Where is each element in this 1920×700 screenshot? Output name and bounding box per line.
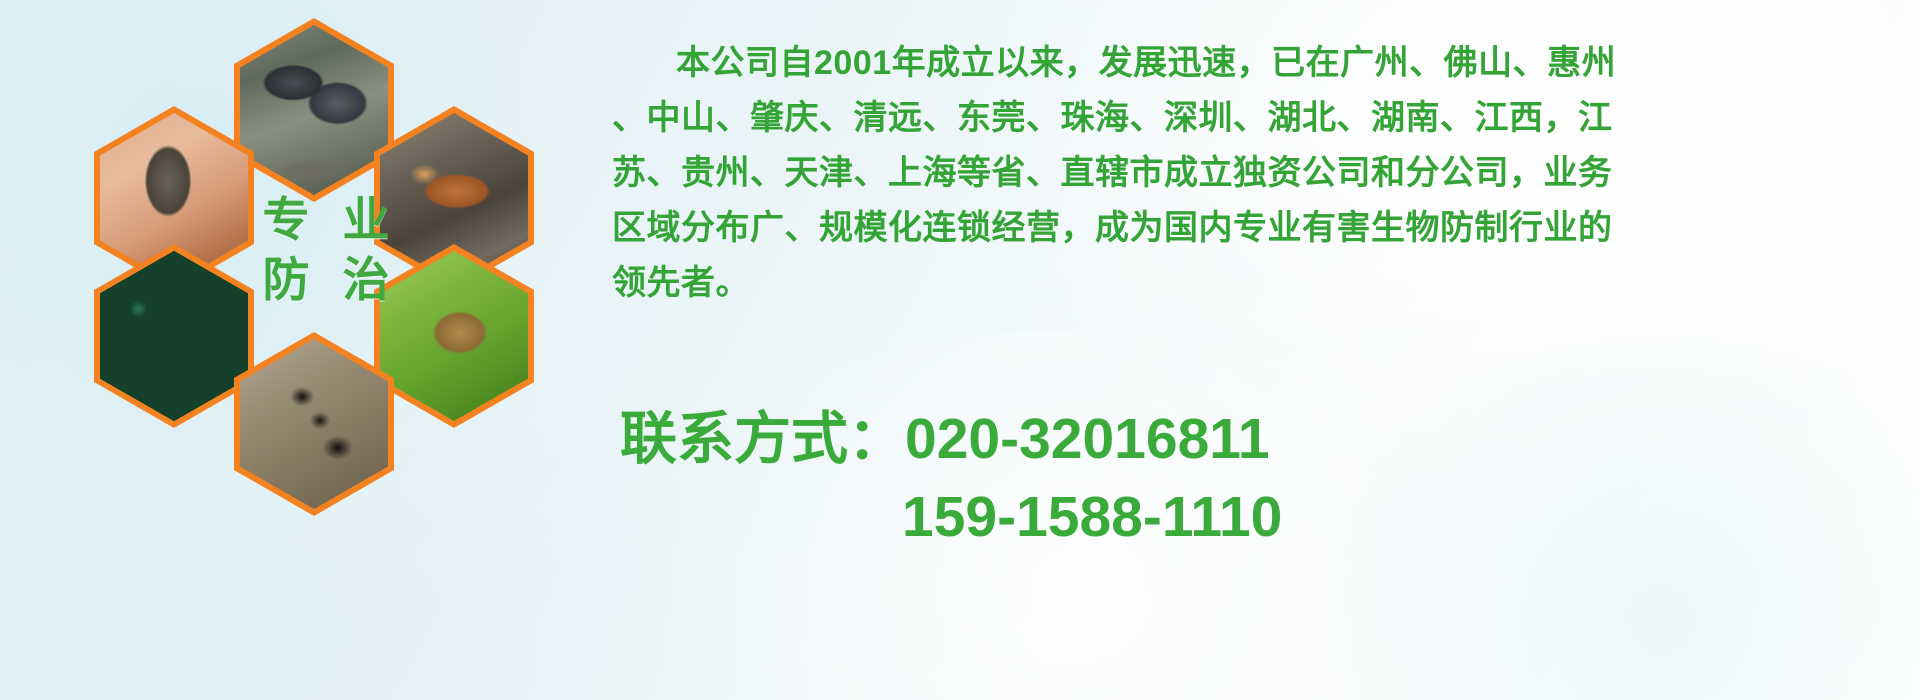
hex-cell-rats[interactable] — [234, 18, 394, 202]
contact-phone-2[interactable]: 159-1588-1110 — [902, 485, 1282, 549]
hex-inner — [240, 339, 388, 509]
ant-photo — [240, 339, 388, 509]
contact-line-primary: 联系方式：020-32016811 — [620, 400, 1920, 478]
honeycomb-collage: 专 业 防 治 — [88, 10, 588, 555]
honeycomb-label-line-1: 专 业 — [236, 190, 426, 250]
hex-cell-flies[interactable] — [94, 244, 254, 428]
hex-cell-ant[interactable] — [234, 332, 394, 516]
description-line-2: 、中山、肇庆、清远、东莞、珠海、深圳、湖北、湖南、江西，江 — [612, 91, 1912, 146]
contact-block: 联系方式：020-32016811 159-1588-1110 — [620, 400, 1920, 556]
description-line-1: 本公司自2001年成立以来，发展迅速，已在广州、佛山、惠州 — [612, 36, 1912, 91]
description-line-4: 区域分布广、规模化连锁经营，成为国内专业有害生物防制行业的 — [612, 201, 1912, 256]
company-description: 本公司自2001年成立以来，发展迅速，已在广州、佛山、惠州 、中山、肇庆、清远、… — [612, 36, 1912, 311]
description-line-5: 领先者。 — [612, 256, 1912, 311]
honeycomb-label-line-2: 防 治 — [236, 250, 426, 310]
promo-banner: 专 业 防 治 本公司自2001年成立以来，发展迅速，已在广州、佛山、惠州 、中… — [0, 0, 1920, 700]
honeycomb-label: 专 业 防 治 — [236, 190, 426, 310]
hex-inner — [240, 25, 388, 195]
contact-line-secondary: 159-1588-1110 — [620, 478, 1920, 556]
hex-inner — [100, 251, 248, 421]
flies-photo — [100, 251, 248, 421]
description-line-3: 苏、贵州、天津、上海等省、直辖市成立独资公司和分公司，业务 — [612, 146, 1912, 201]
contact-phone-1[interactable]: 020-32016811 — [905, 407, 1270, 471]
contact-label: 联系方式： — [620, 407, 905, 471]
rats-photo — [240, 25, 388, 195]
